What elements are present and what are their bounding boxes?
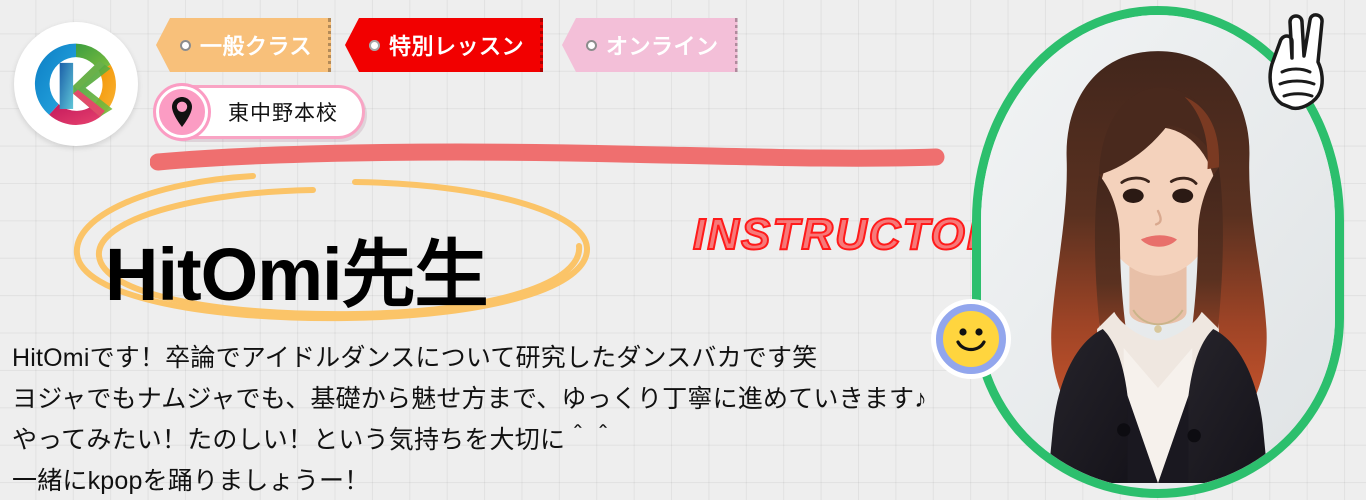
instructor-word: INSTRUCTOR [693, 210, 1001, 260]
smiley-sticker [936, 304, 1006, 374]
location-label: 東中野本校 [228, 97, 338, 127]
description-line-2: ヨジャでもナムジャでも、基礎から魅せ方まで、ゆっくり丁寧に進めていきます♪ [12, 379, 927, 420]
peace-hand-icon [1270, 15, 1322, 108]
tag-online[interactable]: オンライン [562, 18, 738, 72]
tag-hole-icon [180, 40, 191, 51]
instructor-description: HitOmiです！卒論でアイドルダンスについて研究したダンスバカです笑 ヨジャで… [12, 338, 927, 500]
description-line-4: 一緒にkpopを踊りましょうー！ [12, 461, 927, 500]
tag-general-class[interactable]: 一般クラス [156, 18, 331, 72]
tag-special-lesson-label: 特別レッスン [389, 29, 524, 61]
description-line-3: やってみたい！たのしい！という気持ちを大切に＾＾ [12, 420, 927, 461]
map-pin-icon [169, 96, 195, 128]
peace-hand-sticker [1258, 8, 1344, 112]
site-logo[interactable] [14, 22, 138, 146]
location-badge[interactable]: 東中野本校 [157, 85, 365, 139]
smiley-face-icon [945, 313, 997, 365]
location-pin-circle [156, 86, 208, 138]
tag-general-class-label: 一般クラス [200, 29, 312, 61]
description-line-1: HitOmiです！卒論でアイドルダンスについて研究したダンスバカです笑 [12, 338, 927, 379]
red-underline-stroke [150, 140, 950, 180]
tag-hole-icon [586, 40, 597, 51]
k-logo-icon [28, 36, 124, 132]
tag-online-label: オンライン [606, 29, 719, 61]
page-title: HitOmi先生 [105, 215, 488, 322]
tag-hole-icon [369, 40, 380, 51]
instructor-banner: 一般クラス 特別レッスン オンライン 東中野本校 HitOmi先生 INSTRU… [0, 0, 1366, 500]
tag-special-lesson[interactable]: 特別レッスン [345, 18, 543, 72]
